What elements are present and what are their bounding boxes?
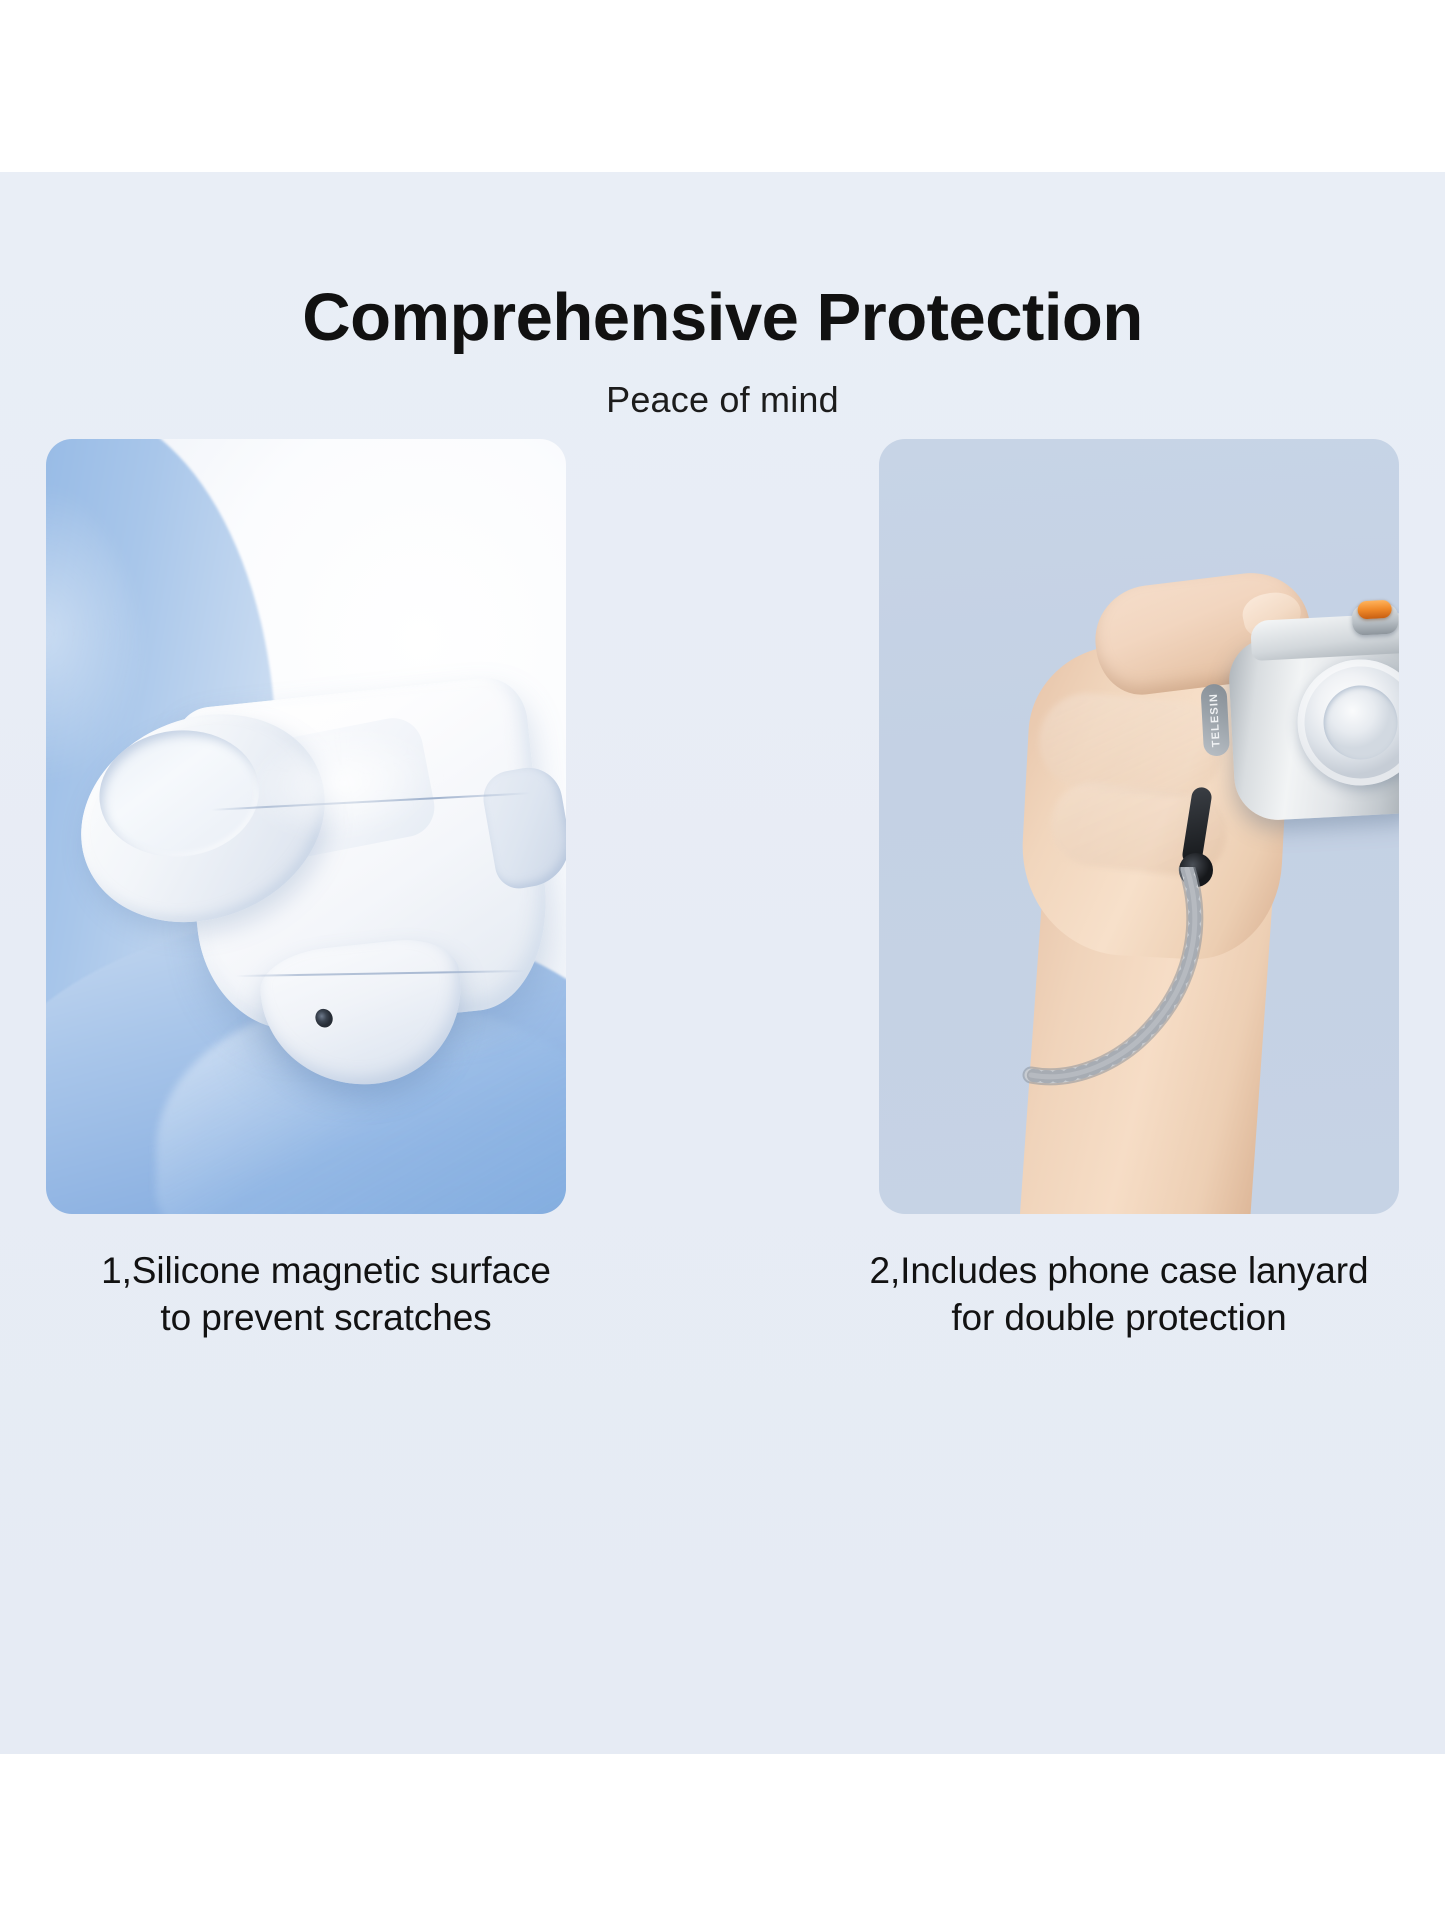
page-subtitle: Peace of mind: [0, 379, 1445, 421]
page-title: Comprehensive Protection: [0, 282, 1445, 353]
brand-logo-text: TELESIN: [1208, 693, 1223, 748]
magnetic-grip-product: [46, 654, 566, 1124]
caption-2-line-2: for double protection: [839, 1294, 1399, 1341]
content-area: Comprehensive Protection Peace of mind: [0, 172, 1445, 1754]
lanyard-cord-svg: [1017, 867, 1231, 1103]
feature-captions: 1,Silicone magnetic surface to prevent s…: [46, 1247, 1399, 1342]
shutter-button-cap: [1357, 600, 1392, 620]
caption-silicone-surface: 1,Silicone magnetic surface to prevent s…: [46, 1247, 606, 1342]
caption-1-line-1: 1,Silicone magnetic surface: [46, 1247, 606, 1294]
hand-holding-device: TELESIN: [913, 487, 1399, 1214]
product-feature-page: Comprehensive Protection Peace of mind: [0, 0, 1445, 1926]
brand-logo-plate: TELESIN: [1200, 683, 1230, 756]
caption-1-line-2: to prevent scratches: [46, 1294, 606, 1341]
wrist-lanyard-cord: [1017, 867, 1231, 1103]
camera-grip-device: TELESIN: [1225, 588, 1399, 838]
product-image-silicone-surface: [46, 439, 566, 1214]
feature-panels: TELESIN: [46, 439, 1399, 1214]
heading-block: Comprehensive Protection Peace of mind: [0, 282, 1445, 421]
grip-foot: [257, 934, 471, 1094]
caption-2-line-1: 2,Includes phone case lanyard: [839, 1247, 1399, 1294]
caption-phone-case-lanyard: 2,Includes phone case lanyard for double…: [839, 1247, 1399, 1342]
product-image-phone-case-lanyard: TELESIN: [879, 439, 1399, 1214]
